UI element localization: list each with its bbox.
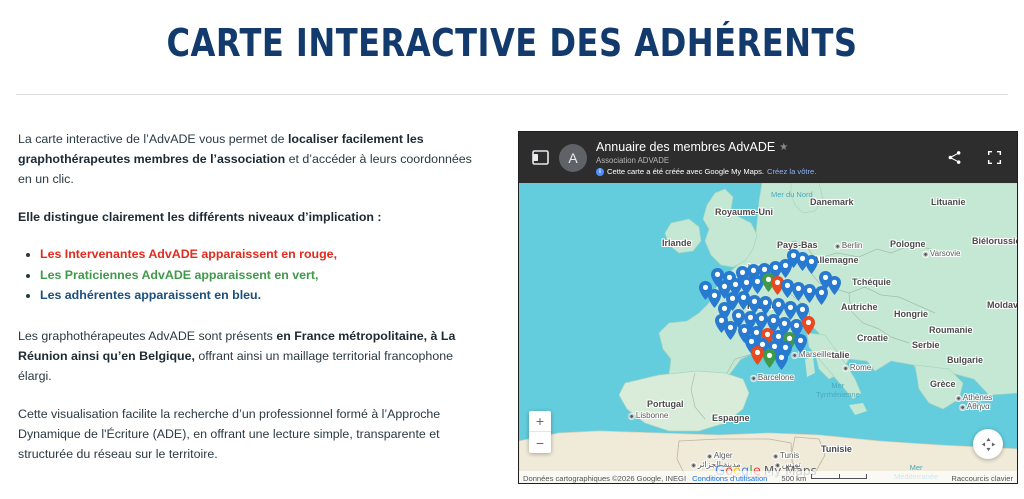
- sidebar-toggle-icon[interactable]: [527, 145, 553, 171]
- levels-heading-text: Elle distingue clairement les différents…: [18, 210, 382, 224]
- map-marker-adherente[interactable]: [775, 351, 788, 370]
- map-marker-adherente[interactable]: [828, 276, 841, 295]
- map-marker-adherente[interactable]: [699, 281, 712, 300]
- page-title: CARTE INTERACTIVE DES ADHÉRENTS: [31, 22, 994, 66]
- coverage-text-a: Les graphothérapeutes AdvADE sont présen…: [18, 329, 276, 343]
- info-icon: i: [596, 168, 604, 176]
- map-title: Annuaire des membres AdvADE: [596, 141, 775, 155]
- compass-icon[interactable]: [973, 429, 1003, 459]
- zoom-out-button[interactable]: −: [529, 432, 551, 453]
- zoom-controls[interactable]: + −: [529, 411, 551, 453]
- paragraph-summary: Cette visualisation facilite la recherch…: [18, 404, 478, 464]
- map-canvas[interactable]: Royaume-UniIrlandeDanemarkLituaniePologn…: [519, 183, 1017, 484]
- map-marker-adherente[interactable]: [805, 255, 818, 274]
- map-marker-adherente[interactable]: [715, 314, 728, 333]
- levels-list: Les Intervenantes AdvADE apparaissent en…: [18, 245, 478, 306]
- map-title-row: Annuaire des membres AdvADE★: [596, 139, 941, 157]
- map-marker-intervenante[interactable]: [802, 316, 815, 335]
- list-item-praticiennes: Les Praticiennes AdvADE apparaissent en …: [40, 266, 478, 286]
- intro-text-a: La carte interactive de l’AdvADE vous pe…: [18, 132, 288, 146]
- list-item-adherentes: Les adhérentes apparaissent en bleu.: [40, 286, 478, 306]
- create-your-own-link[interactable]: Créez la vôtre.: [767, 168, 816, 176]
- fullscreen-icon[interactable]: [981, 145, 1007, 171]
- created-note-text: Cette carte a été créée avec Google My M…: [607, 168, 764, 176]
- map-subtitle: Association ADVADE: [596, 157, 941, 166]
- google-my-maps-embed[interactable]: A Annuaire des membres AdvADE★ Associati…: [518, 131, 1018, 484]
- paragraph-coverage: Les graphothérapeutes AdvADE sont présen…: [18, 326, 478, 386]
- share-icon[interactable]: [941, 145, 967, 171]
- paragraph-intro: La carte interactive de l’AdvADE vous pe…: [18, 129, 478, 189]
- article-column: La carte interactive de l’AdvADE vous pe…: [0, 95, 500, 483]
- star-icon[interactable]: ★: [779, 142, 788, 153]
- map-attribution-bar: Données cartographiques ©2026 Google, IN…: [519, 471, 1017, 484]
- list-item-intervenantes: Les Intervenantes AdvADE apparaissent en…: [40, 245, 478, 265]
- levels-heading: Elle distingue clairement les différents…: [18, 207, 478, 227]
- map-marker-intervenante[interactable]: [751, 346, 764, 365]
- map-attribution-text: Données cartographiques ©2026 Google, IN…: [523, 474, 686, 483]
- map-created-note: i Cette carte a été créée avec Google My…: [596, 168, 941, 176]
- scale-label: 500 km: [781, 474, 806, 483]
- map-marker-adherente[interactable]: [794, 334, 807, 353]
- zoom-in-button[interactable]: +: [529, 411, 551, 432]
- map-header-bar: A Annuaire des membres AdvADE★ Associati…: [519, 132, 1017, 183]
- keyboard-shortcuts-link[interactable]: Raccourcis clavier: [951, 474, 1013, 483]
- scale-bar: [811, 474, 867, 479]
- avatar[interactable]: A: [559, 144, 587, 172]
- terms-link[interactable]: Conditions d'utilisation: [692, 474, 767, 483]
- map-title-block: Annuaire des membres AdvADE★ Association…: [596, 139, 941, 177]
